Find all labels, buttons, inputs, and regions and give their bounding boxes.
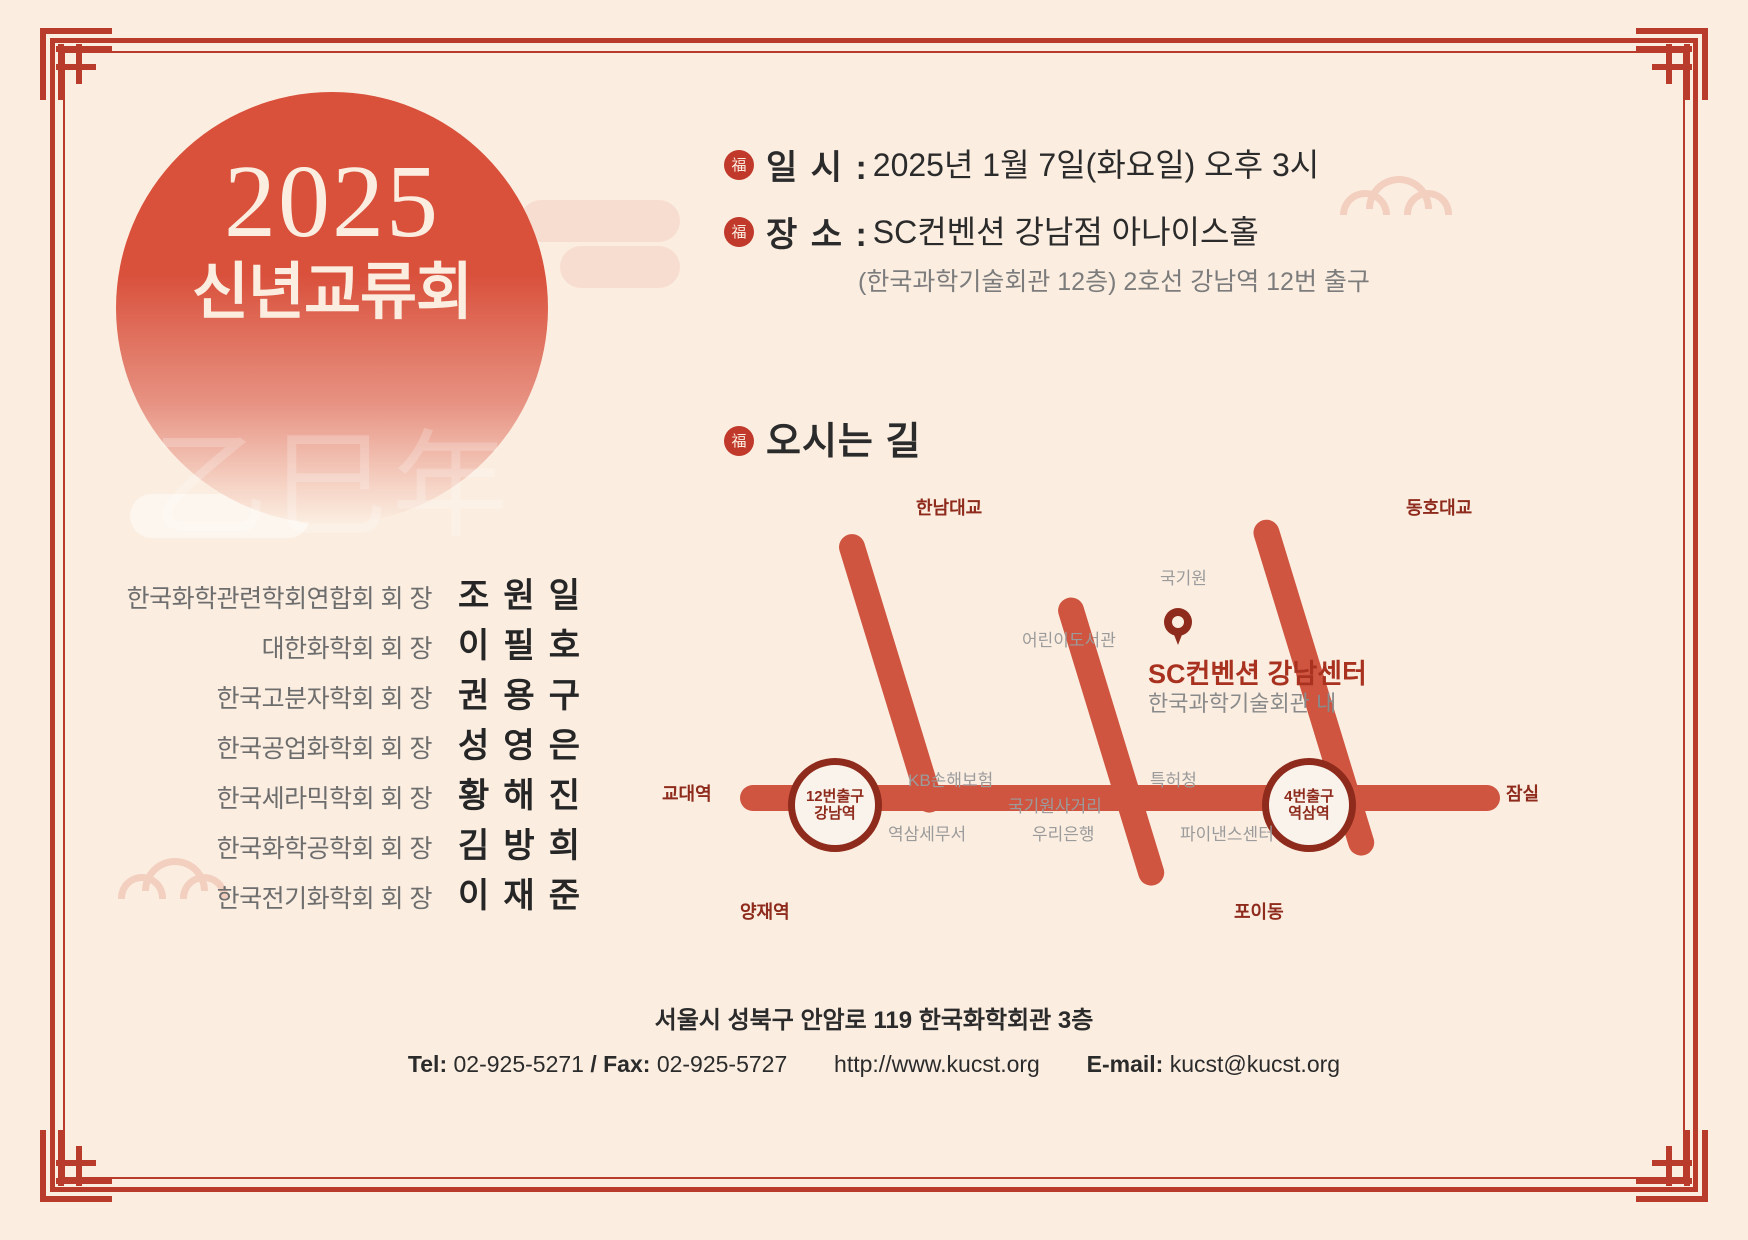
info-value-datetime: 2025년 1월 7일(화요일) 오후 3시 [873,140,1319,186]
officer-org: 한국화학관련학회연합회 회 장 [127,579,432,615]
map-poi-yeoksam-tax-office: 역삼세무서 [888,820,966,845]
hero-year: 2025 [116,150,548,254]
footer-email-label: E-mail: [1087,1051,1164,1077]
footer: 서울시 성북구 안암로 119 한국화학회관 3층 Tel: 02-925-52… [0,1000,1748,1078]
cloud-shape [560,246,680,288]
wave-ornament-top-right [1340,176,1436,228]
officer-org: 한국고분자학회 회 장 [217,679,432,715]
map-poi-kb-insurance: KB손해보험 [908,766,993,791]
corner-ornament-top-left [40,28,112,100]
station-exit-label: 12번출구 [806,788,864,805]
officer-name-char: 일 [549,568,580,617]
map-poi-finance-center: 파이낸스센터 [1180,820,1274,845]
footer-tel-label: Tel: [408,1051,447,1077]
info-value-venue: SC컨벤션 강남점 아나이스홀 [873,207,1259,253]
officer-org: 한국화학공학회 회 장 [217,829,432,865]
info-row-venue: 福 장 소 : SC컨벤션 강남점 아나이스홀 [724,207,1319,256]
officer-name-char: 영 [503,718,534,767]
info-note-address: (한국과학기술회관 12층) 2호선 강남역 12번 출구 [858,262,1370,298]
officer-name-char: 진 [549,768,580,817]
officer-name: 조 원 일 [458,568,580,617]
directions-title: 오시는 길 [766,410,921,465]
officer-name-char: 이 [458,868,489,917]
directions-heading: 福 오시는 길 [724,410,921,465]
list-item: 한국세라믹학회 회 장 황 해 진 [120,768,580,818]
list-item: 한국고분자학회 회 장 권 용 구 [120,668,580,718]
hero-subtitle: 신년교류회 [116,262,548,324]
list-item: 한국공업화학회 회 장 성 영 은 [120,718,580,768]
bok-badge-icon: 福 [724,150,754,180]
list-item: 대한화학회 회 장 이 필 호 [120,618,580,668]
station-exit-label: 4번출구 [1284,788,1334,805]
footer-contact: Tel: 02-925-5271 / Fax: 02-925-5727 http… [0,1051,1748,1078]
info-label-datetime: 일 시 : [766,140,869,189]
bok-badge-icon: 福 [724,217,754,247]
officer-name-char: 재 [503,868,534,917]
hero-watermark: 乙巳年 [116,392,548,560]
map-poi-gukgiwon: 국기원 [1160,564,1207,589]
corner-ornament-bottom-left [40,1130,112,1202]
officer-name-char: 이 [458,618,489,667]
officer-name: 성 영 은 [458,718,580,767]
map-poi-childrens-library: 어린이도서관 [1022,626,1116,651]
info-label-venue: 장 소 : [766,207,869,256]
map-endpoint-jamsil: 잠실 [1506,780,1539,806]
officer-name-char: 권 [458,668,489,717]
officer-name: 황 해 진 [458,768,580,817]
list-item: 한국전기화학회 회 장 이 재 준 [120,868,580,918]
station-gangnam: 12번출구 강남역 [788,758,882,852]
map-endpoint-gyodaeyeok: 교대역 [662,780,712,806]
officer-name-char: 희 [549,818,580,867]
officer-name-char: 필 [503,618,534,667]
corner-ornament-bottom-right [1636,1130,1708,1202]
footer-tel-value: 02-925-5271 [454,1051,584,1077]
footer-fax-label: Fax: [603,1051,650,1077]
officer-name-char: 김 [458,818,489,867]
map-poi-patent-office: 특허청 [1150,766,1197,791]
station-yeoksam: 4번출구 역삼역 [1262,758,1356,852]
poster-canvas: 乙巳年 2025 신년교류회 福 일 시 : 2025년 1월 7일(화요일) … [0,0,1748,1240]
officer-name-char: 성 [458,718,489,767]
officer-name-char: 준 [549,868,580,917]
officer-name: 권 용 구 [458,668,580,717]
officers-list: 한국화학관련학회연합회 회 장 조 원 일 대한화학회 회 장 이 필 호 한국… [120,568,580,918]
officer-name: 김 방 희 [458,818,580,867]
officer-org: 한국공업화학회 회 장 [217,729,432,765]
map-endpoint-donghodaegyo: 동호대교 [1406,494,1472,520]
map-poi-gukgiwon-crossroad: 국기원사거리 [1008,792,1102,817]
location-map: 12번출구 강남역 4번출구 역삼역 한남대교 동호대교 교대역 잠실 양재역 … [640,480,1540,940]
officer-name: 이 필 호 [458,618,580,667]
officer-name-char: 구 [549,668,580,717]
officer-org: 한국전기화학회 회 장 [217,879,432,915]
officer-name-char: 조 [458,568,489,617]
officer-org: 한국세라믹학회 회 장 [217,779,432,815]
list-item: 한국화학공학회 회 장 김 방 희 [120,818,580,868]
footer-separator: / [590,1051,596,1077]
map-endpoint-hannamdaegyo: 한남대교 [916,494,982,520]
corner-ornament-top-right [1636,28,1708,100]
map-venue-sub: 한국과학기술회관 내 [1148,686,1336,718]
station-name-label: 역삼역 [1288,805,1329,822]
officer-name-char: 원 [503,568,534,617]
map-endpoint-yangjaeyeok: 양재역 [740,898,790,924]
footer-website-link[interactable]: http://www.kucst.org [834,1051,1040,1077]
footer-address: 서울시 성북구 안암로 119 한국화학회관 3층 [0,1000,1748,1035]
info-row-datetime: 福 일 시 : 2025년 1월 7일(화요일) 오후 3시 [724,140,1319,189]
location-pin-icon [1164,608,1192,646]
officer-org: 대한화학회 회 장 [262,629,432,665]
event-info: 福 일 시 : 2025년 1월 7일(화요일) 오후 3시 福 장 소 : S… [724,140,1319,274]
map-poi-woori-bank: 우리은행 [1032,820,1095,845]
list-item: 한국화학관련학회연합회 회 장 조 원 일 [120,568,580,618]
officer-name: 이 재 준 [458,868,580,917]
officer-name-char: 방 [503,818,534,867]
officer-name-char: 은 [549,718,580,767]
footer-email-link[interactable]: kucst@kucst.org [1170,1051,1340,1077]
officer-name-char: 황 [458,768,489,817]
officer-name-char: 호 [549,618,580,667]
officer-name-char: 해 [503,768,534,817]
map-endpoint-poidong: 포이동 [1234,898,1284,924]
footer-fax-value: 02-925-5727 [657,1051,787,1077]
officer-name-char: 용 [503,668,534,717]
bok-badge-icon: 福 [724,426,754,456]
station-name-label: 강남역 [814,805,855,822]
